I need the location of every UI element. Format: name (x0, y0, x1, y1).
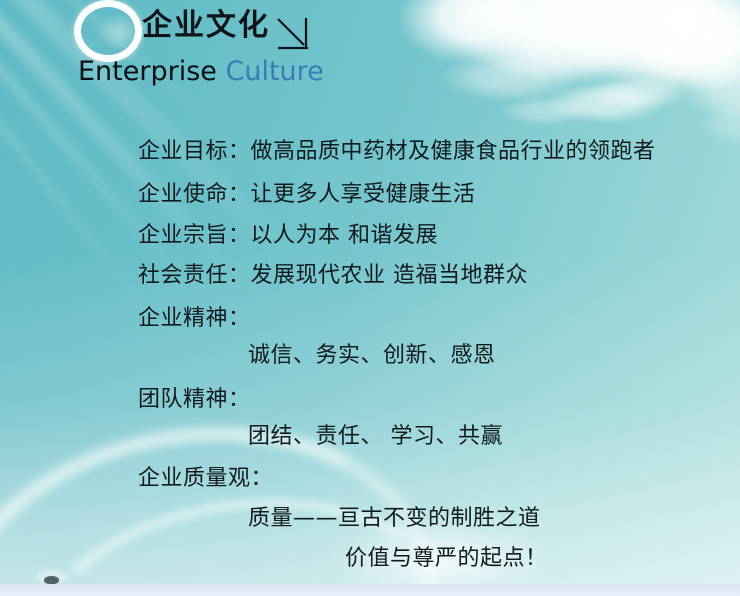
body-line: 诚信、务实、创新、感恩 (248, 345, 496, 367)
cloud-shape (700, 100, 740, 146)
bottom-speck-halo (36, 570, 68, 584)
slide-canvas: 企业文化 Enterprise Culture 企业目标：做高品质中药材及健康食… (0, 0, 740, 596)
cloud-shape (545, 82, 665, 124)
page-title-english-part2: Culture (225, 56, 323, 87)
body-line: 企业质量观： (138, 468, 273, 490)
body-line: 企业宗旨：以人为本 和谐发展 (138, 225, 438, 247)
arrow-down-right-corner-icon (276, 17, 318, 57)
cloud-shape (612, 0, 740, 90)
cloud-shape (398, 0, 548, 65)
body-line: 质量——亘古不变的制胜之道 (248, 508, 541, 530)
page-title-chinese: 企业文化 (142, 11, 270, 41)
cloud-shape (540, 0, 740, 85)
body-line: 企业使命：让更多人享受健康生活 (138, 184, 476, 206)
cloud-shape (470, 6, 680, 86)
decorative-ring-icon (74, 0, 142, 62)
bottom-bar (0, 584, 740, 596)
body-line: 企业目标：做高品质中药材及健康食品行业的领跑者 (138, 141, 656, 163)
ghost-ring-icon (88, 8, 150, 56)
body-line: 团结、责任、 学习、共赢 (248, 426, 503, 448)
cloud-shape (600, 22, 740, 94)
body-line: 价值与尊严的起点！ (345, 548, 548, 570)
body-line: 团队精神： (138, 389, 251, 411)
cloud-shape (500, 96, 590, 126)
bottom-speck (44, 576, 59, 584)
cloud-shape (590, 74, 690, 110)
page-title-english: Enterprise Culture (78, 58, 324, 85)
body-line: 企业精神： (138, 308, 251, 330)
bottom-arc-swoosh-secondary (17, 478, 482, 596)
page-title-english-part1: Enterprise (78, 56, 225, 87)
cloud-shape (440, 52, 580, 102)
cloud-shape (680, 60, 740, 120)
body-line: 社会责任：发展现代农业 造福当地群众 (138, 265, 528, 287)
cloud-shape (430, 0, 680, 80)
